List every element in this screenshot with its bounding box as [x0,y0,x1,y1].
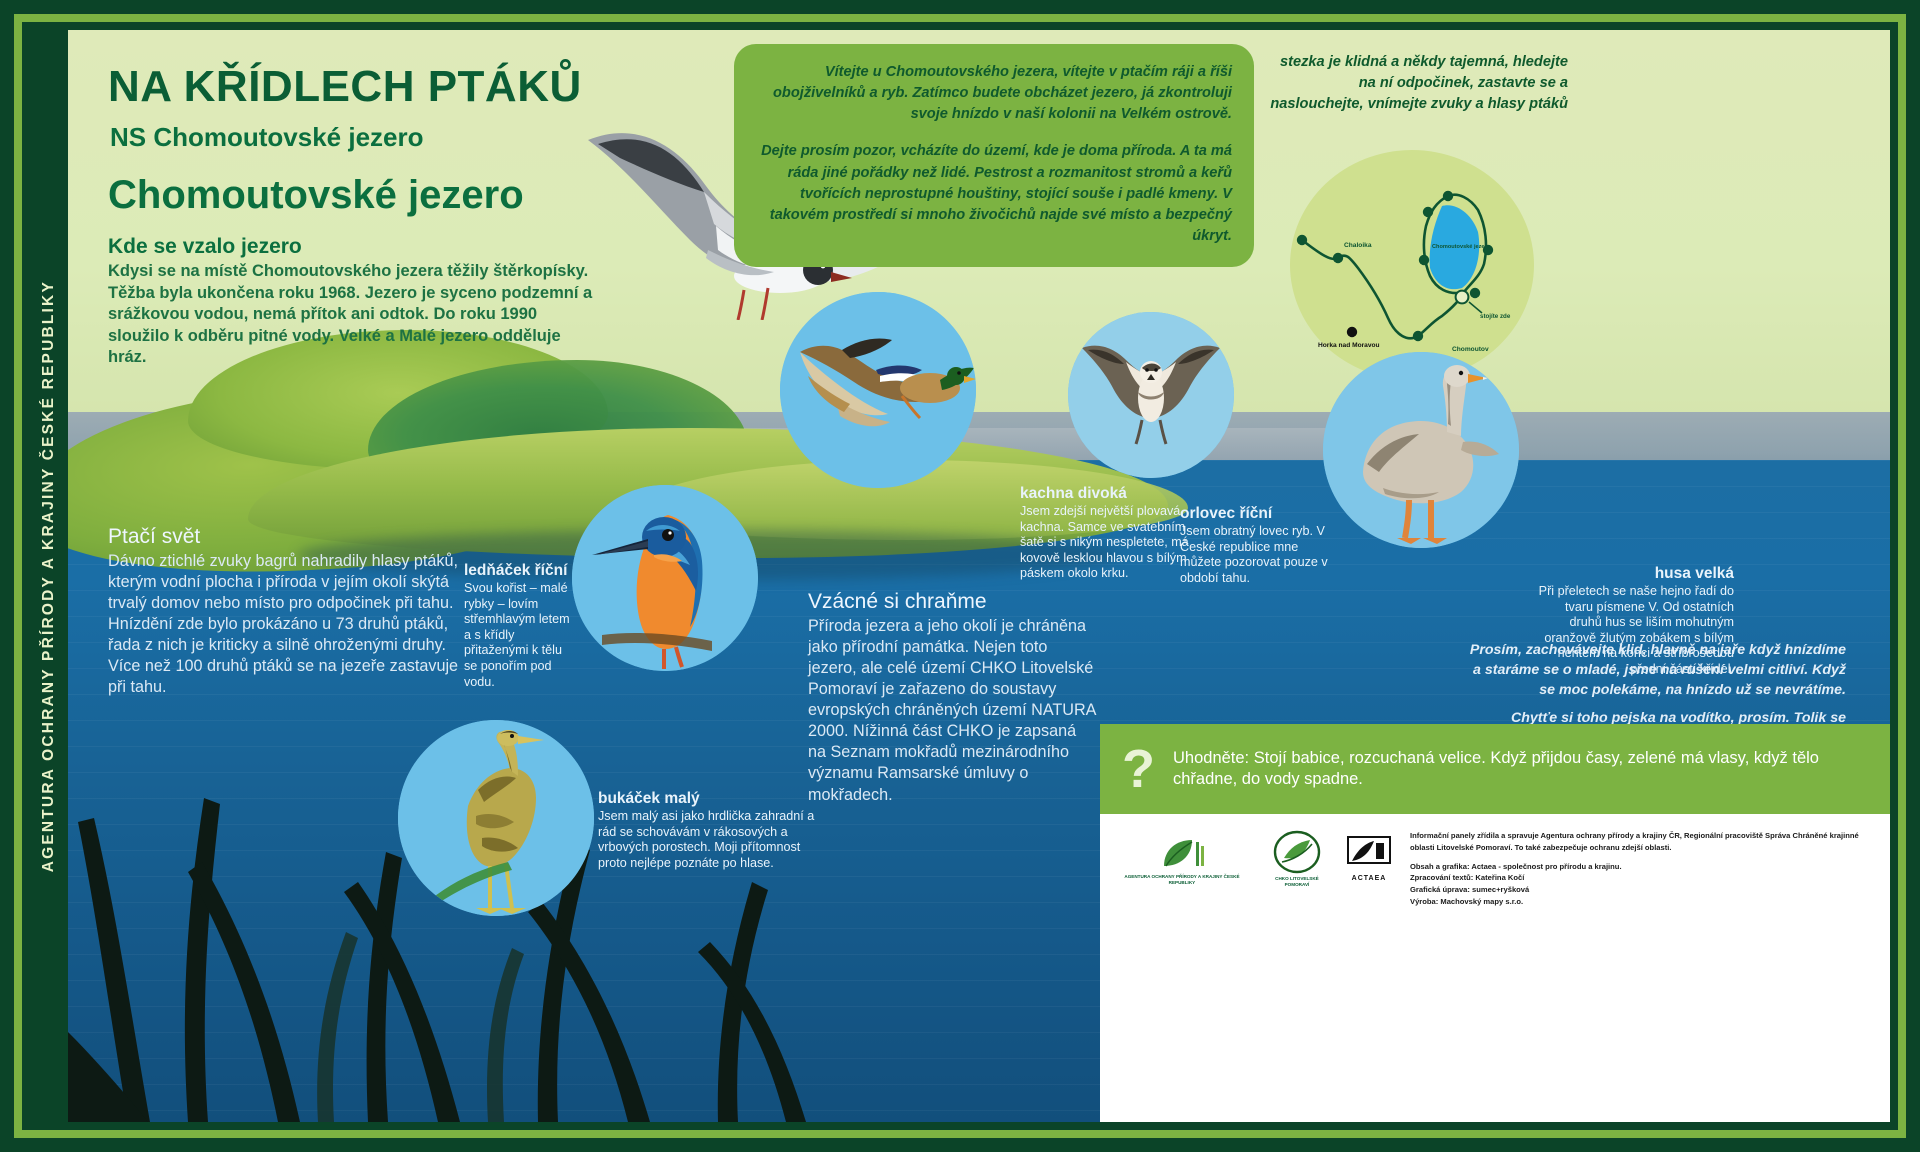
footer-credits-text: Informační panely zřídila a spravuje Age… [1410,830,1876,915]
trail-note: stezka je klidná a někdy tajemná, hledej… [1268,52,1568,115]
bird-world-body: Dávno ztichlé zvuky bagrů nahradily hlas… [108,551,478,656]
information-board: AGENTURA OCHRANY PŘÍRODY A KRAJINY ČESKÉ… [0,0,1920,1152]
protection-body: Příroda jezera a jeho okolí je chráněna … [808,616,1098,806]
page-title: NA KŘÍDLECH PTÁKŮ [108,62,582,112]
welcome-paragraph-2: Dejte prosím pozor, vcházíte do území, k… [756,141,1232,247]
little-bittern-illustration [398,720,594,916]
caption-lednacek-ricni: ledňáček říční Svou kořist – malé rybky … [464,562,572,690]
map-label-you-are-here: stojíte zde [1480,313,1510,320]
board-canvas: NA KŘÍDLECH PTÁKŮ NS Chomoutovské jezero… [68,30,1890,1122]
bird-name-lednacek: ledňáček říční [464,562,572,580]
medallion-lednacek-ricni [572,485,758,671]
bird-description-bukacek: Jsem malý asi jako hrdlička zahradní a r… [598,809,820,871]
chko-logo-caption: CHKO LITOVELSKÉ POMORAVÍ [1264,876,1330,887]
page-subtitle: NS Chomoutovské jezero [110,122,424,153]
welcome-paragraph-1: Vítejte u Chomoutovského jezera, vítejte… [756,62,1232,125]
map-label-chomoutov: Chomoutov [1452,346,1489,353]
actaea-logo-caption: ACTAEA [1352,875,1387,884]
question-mark-icon: ? [1122,742,1155,796]
welcome-callout: Vítejte u Chomoutovského jezera, vítejte… [734,44,1254,267]
origin-section: Kde se vzalo jezero Kdysi se na místě Ch… [108,235,598,369]
origin-heading: Kde se vzalo jezero [108,235,598,259]
map-label-horka: Horka nad Moravou [1318,342,1380,349]
caption-kachna-divoka: kachna divoká Jsem zdejší největší plova… [1020,485,1202,582]
actaea-mark-icon [1344,833,1394,873]
actaea-logo: ACTAEA [1344,833,1394,884]
medallion-bukacek-maly [398,720,594,916]
map-label-lake: Chomoutovské jezero [1432,244,1490,250]
bird-description-lednacek: Svou kořist – malé rybky – lovím střemhl… [464,581,572,690]
footer-logos: AGENTURA OCHRANY PŘÍRODY A KRAJINY ČESKÉ… [1114,830,1394,887]
agency-vertical-band: AGENTURA OCHRANY PŘÍRODY A KRAJINY ČESKÉ… [30,30,68,1122]
aopk-logo-caption: AGENTURA OCHRANY PŘÍRODY A KRAJINY ČESKÉ… [1114,874,1250,885]
bird-description-orlovec: Jsem obratný lovec ryb. V České republic… [1180,524,1340,586]
map-label-chaloika: Chaloika [1344,242,1371,249]
bird-description-kachna: Jsem zdejší největší plovavá kachna. Sam… [1020,504,1202,582]
medallion-husa-velka [1323,352,1519,548]
mallard-illustration [780,292,976,488]
protection-section: Vzácné si chraňme Příroda jezera a jeho … [808,590,1098,806]
aopk-logo: AGENTURA OCHRANY PŘÍRODY A KRAJINY ČESKÉ… [1114,832,1250,885]
medallion-kachna-divoka [780,292,976,488]
riddle-box: ? Uhodněte: Stojí babice, rozcuchaná vel… [1100,724,1890,814]
footer-credits-bar: AGENTURA OCHRANY PŘÍRODY A KRAJINY ČESKÉ… [1100,814,1890,1122]
greylag-goose-illustration [1323,352,1519,548]
bird-name-husa: husa velká [1538,565,1734,583]
origin-body: Kdysi se na místě Chomoutovského jezera … [108,261,598,369]
agency-vertical-label: AGENTURA OCHRANY PŘÍRODY A KRAJINY ČESKÉ… [40,280,58,872]
bird-world-heading: Ptačí svět [108,525,478,549]
medallion-orlovec-ricni [1068,312,1234,478]
caption-bukacek-maly: bukáček malý Jsem malý asi jako hrdlička… [598,790,820,871]
trail-map: Chaloika Chomoutovské jezero Horka nad M… [1266,150,1562,380]
kingfisher-illustration [572,485,758,671]
chko-logo: CHKO LITOVELSKÉ POMORAVÍ [1264,830,1330,887]
bird-world-section: Ptačí svět Dávno ztichlé zvuky bagrů nah… [108,525,478,698]
chko-shield-icon [1272,830,1322,874]
bird-world-body-2: Více než 100 druhů ptáků se na jezeře za… [108,656,478,698]
protection-heading: Vzácné si chraňme [808,590,1098,614]
bird-name-bukacek: bukáček malý [598,790,820,808]
bird-name-kachna: kachna divoká [1020,485,1202,503]
aopk-leaf-icon [1154,832,1210,872]
bird-name-orlovec: orlovec říční [1180,505,1340,523]
credits-block-2: Obsah a grafika: Actaea - společnost pro… [1410,861,1876,908]
osprey-illustration [1068,312,1234,478]
place-title: Chomoutovské jezero [108,173,524,218]
credits-block-1: Informační panely zřídila a spravuje Age… [1410,830,1876,854]
caption-orlovec-ricni: orlovec říční Jsem obratný lovec ryb. V … [1180,505,1340,586]
quiet-request-note: Prosím, zachovávejte klid, hlavně na jař… [1466,640,1846,700]
riddle-text: Uhodněte: Stojí babice, rozcuchaná velic… [1173,748,1872,791]
